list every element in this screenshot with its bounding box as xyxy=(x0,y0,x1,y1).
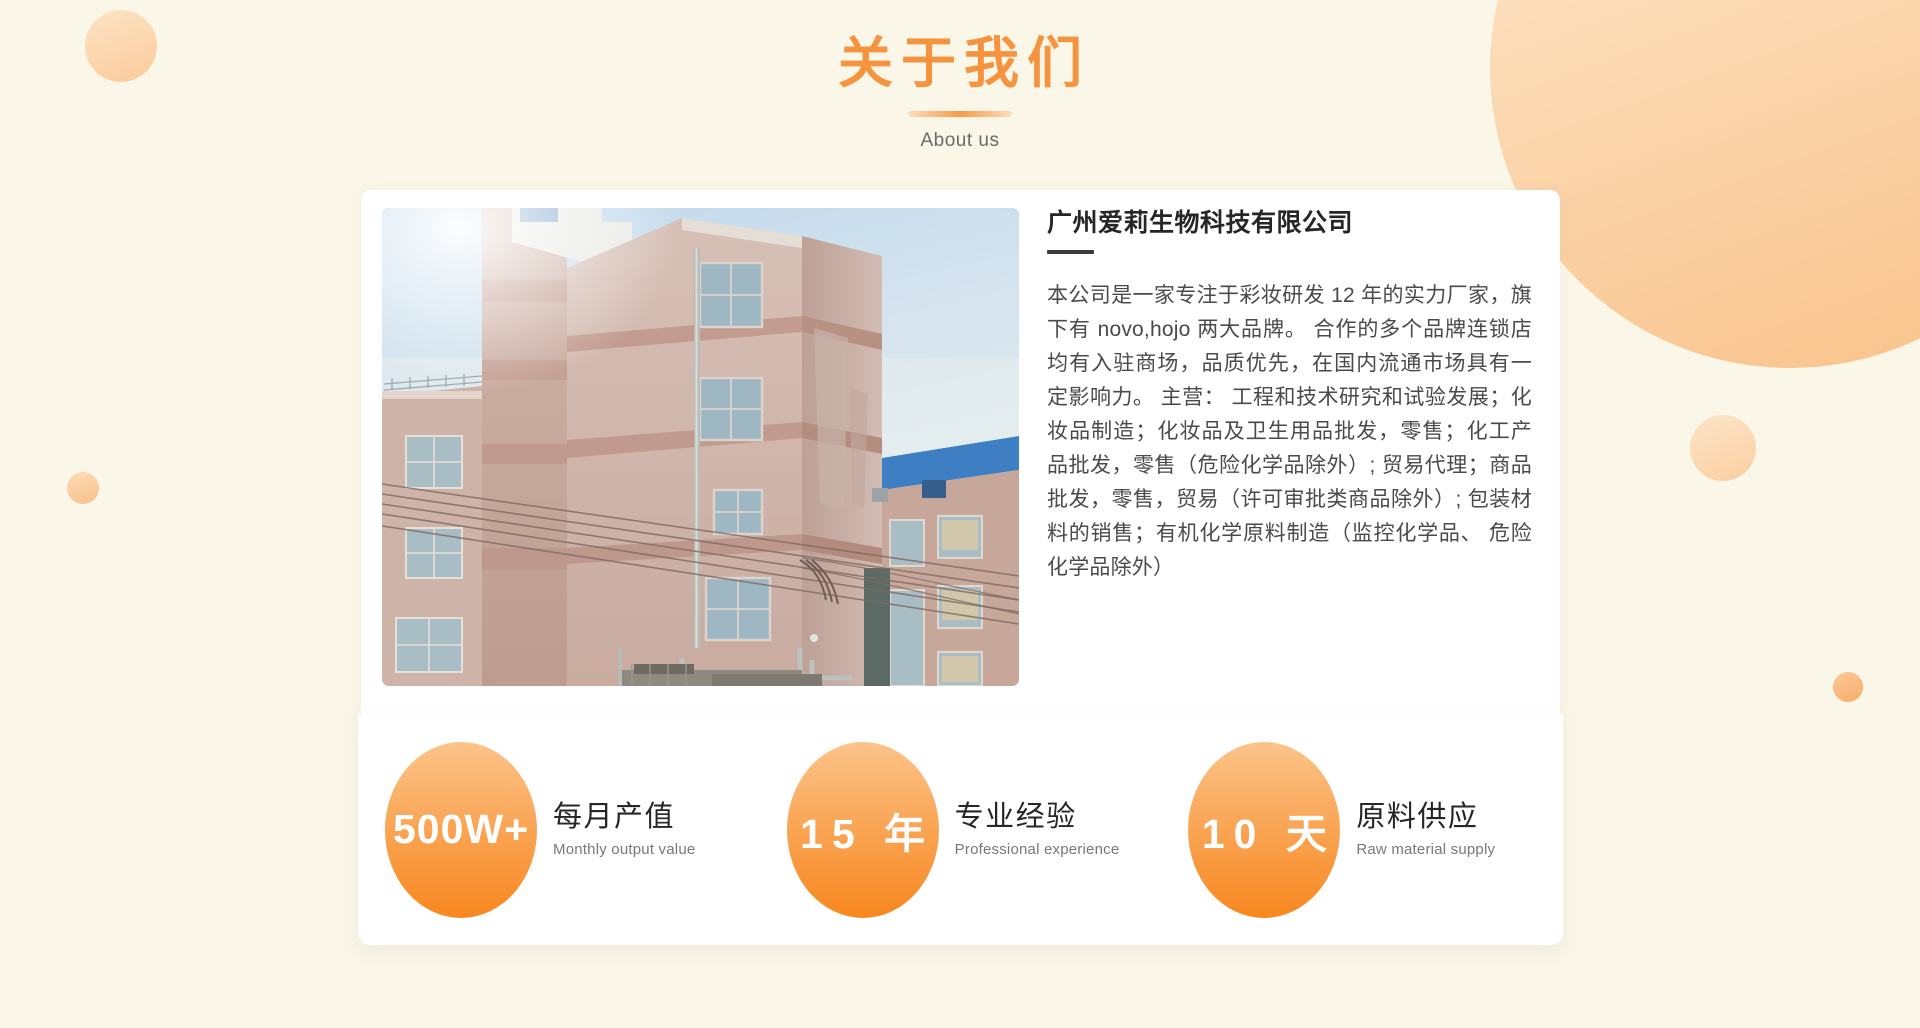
stat-value: 15 年 xyxy=(791,800,934,860)
section-header: 关于我们 About us xyxy=(0,0,1920,152)
stat-label-group: 原料供应 Raw material supply xyxy=(1356,801,1495,857)
company-stats-card: 500W+ 每月产值 Monthly output value 15 年 专业经… xyxy=(358,714,1563,945)
company-building-photo-graphic xyxy=(382,208,1019,686)
stat-label-group: 专业经验 Professional experience xyxy=(955,801,1120,857)
about-info-card: 广州爱莉生物科技有限公司 本公司是一家专注于彩妆研发 12 年的实力厂家，旗下有… xyxy=(361,190,1560,718)
stat-item-raw-material-supply: 10 天 原料供应 Raw material supply xyxy=(1161,714,1563,945)
company-building-photo xyxy=(382,208,1019,686)
stat-badge-circle: 10 天 xyxy=(1188,742,1340,918)
company-info-block: 广州爱莉生物科技有限公司 本公司是一家专注于彩妆研发 12 年的实力厂家，旗下有… xyxy=(1047,208,1532,585)
stat-badge-circle: 500W+ xyxy=(385,742,537,918)
stat-label-group: 每月产值 Monthly output value xyxy=(553,801,695,857)
stat-item-monthly-output: 500W+ 每月产值 Monthly output value xyxy=(358,714,760,945)
stat-item-professional-experience: 15 年 专业经验 Professional experience xyxy=(760,714,1162,945)
stat-value: 500W+ xyxy=(393,806,529,853)
company-description: 本公司是一家专注于彩妆研发 12 年的实力厂家，旗下有 novo,hojo 两大… xyxy=(1047,279,1532,585)
stat-label-en: Professional experience xyxy=(955,841,1120,858)
stat-value: 10 天 xyxy=(1193,800,1336,860)
page-subtitle: About us xyxy=(0,130,1920,152)
stat-label-cn: 专业经验 xyxy=(955,801,1120,834)
stat-label-en: Monthly output value xyxy=(553,841,695,858)
decorative-circle-low-right xyxy=(1833,672,1863,702)
decorative-circle-mid-left xyxy=(67,472,99,504)
stat-label-en: Raw material supply xyxy=(1356,841,1495,858)
title-underline xyxy=(908,111,1012,117)
decorative-circle-mid-right xyxy=(1690,415,1756,481)
company-name-underline xyxy=(1047,250,1094,254)
company-name: 广州爱莉生物科技有限公司 xyxy=(1047,208,1532,238)
stat-label-cn: 原料供应 xyxy=(1356,801,1495,834)
page-title: 关于我们 xyxy=(0,0,1920,91)
stat-badge-circle: 15 年 xyxy=(787,742,939,918)
stat-label-cn: 每月产值 xyxy=(553,801,695,834)
